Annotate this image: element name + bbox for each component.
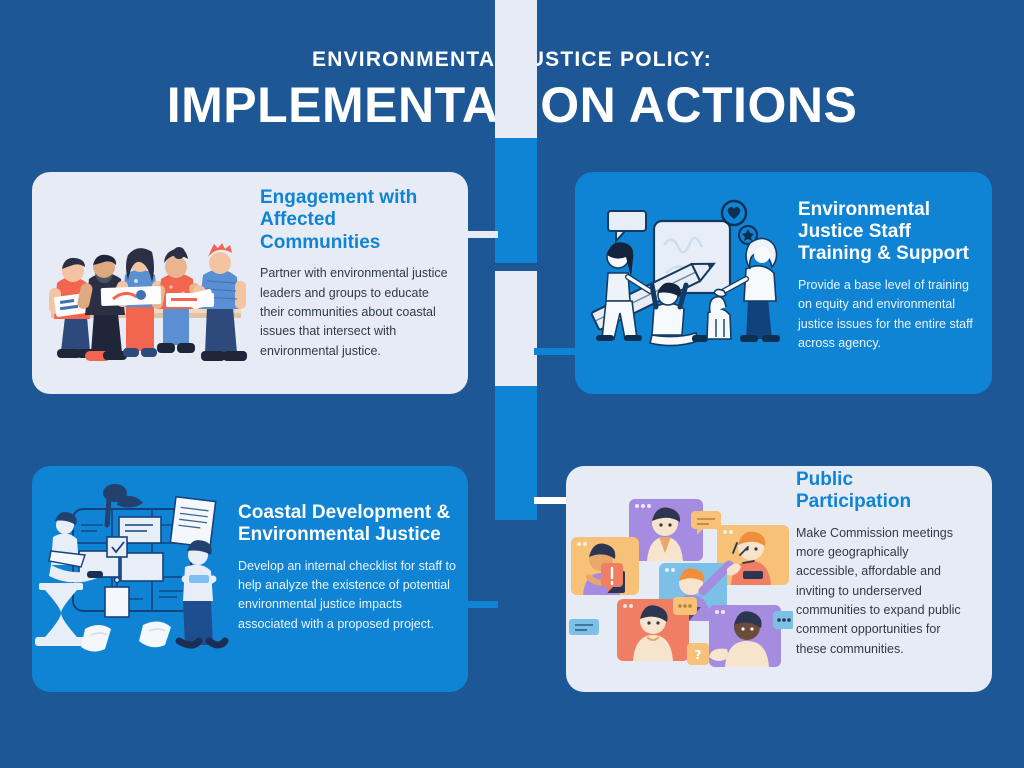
people-meeting-around-table-illustration xyxy=(32,172,260,394)
people-with-giant-pencil-whiteboard-illustration xyxy=(575,172,790,394)
card-coastal-text: Coastal Development & Environmental Just… xyxy=(232,466,468,692)
video-conference-participants-illustration: ? xyxy=(566,466,794,692)
infographic-canvas: ENVIRONMENTAL JUSTICE POLICY: IMPLEMENTA… xyxy=(0,0,1024,768)
card-training-body: Provide a base level of training on equi… xyxy=(798,276,980,354)
card-coastal[interactable]: Coastal Development & Environmental Just… xyxy=(32,466,468,692)
spine-segment-blue-upper xyxy=(495,138,537,263)
card-training-text: Environmental Justice Staff Training & S… xyxy=(790,172,992,394)
card-public[interactable]: ? Public Participation Make Commission m… xyxy=(566,466,992,692)
checklist-board-hourglass-illustration xyxy=(32,466,232,692)
stub-spine-to-training xyxy=(534,348,578,355)
spine-segment-blue-lower xyxy=(495,386,537,520)
card-engagement-body: Partner with environmental justice leade… xyxy=(260,264,450,361)
card-coastal-body: Develop an internal checklist for staff … xyxy=(238,557,456,635)
card-coastal-title: Coastal Development & Environmental Just… xyxy=(238,502,456,547)
card-public-title: Public Participation xyxy=(796,469,972,514)
svg-text:?: ? xyxy=(695,648,702,662)
card-engagement[interactable]: Engagement with Affected Communities Par… xyxy=(32,172,468,394)
spine-segment-light-top xyxy=(495,0,537,138)
card-training[interactable]: Environmental Justice Staff Training & S… xyxy=(575,172,992,394)
card-training-title: Environmental Justice Staff Training & S… xyxy=(798,199,980,266)
card-engagement-title: Engagement with Affected Communities xyxy=(260,187,450,254)
spine-segment-light-middle xyxy=(495,271,537,386)
card-engagement-text: Engagement with Affected Communities Par… xyxy=(260,172,468,394)
stub-spine-to-public xyxy=(534,497,570,504)
card-public-body: Make Commission meetings more geographic… xyxy=(796,524,972,660)
card-public-text: Public Participation Make Commission mee… xyxy=(794,466,992,692)
